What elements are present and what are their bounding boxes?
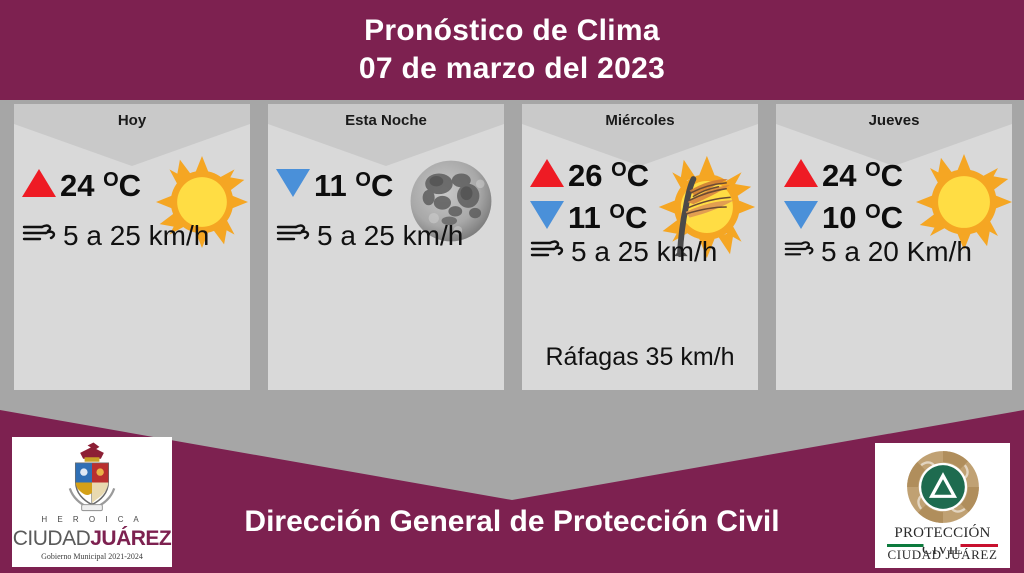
- low-temp-value: 11 OC: [568, 195, 647, 235]
- temperature-block: 11 OC: [276, 158, 393, 208]
- wind-row: 5 a 25 km/h: [530, 236, 717, 267]
- triangle-down-icon: [784, 201, 818, 229]
- forecast-card-esta-noche[interactable]: Esta Noche: [268, 104, 504, 390]
- low-temp-value: 10 OC: [822, 195, 903, 235]
- card-day-label: Jueves: [776, 112, 1012, 129]
- card-body: 11 OC: [268, 154, 504, 390]
- card-body: 24 OC: [14, 154, 250, 390]
- footer-banner-text: Dirección General de Protección Civil: [0, 505, 1024, 539]
- card-day-label: Esta Noche: [268, 112, 504, 129]
- wind-row: 5 a 25 km/h: [22, 220, 209, 251]
- wind-icon: [276, 220, 312, 251]
- forecast-card-jueves[interactable]: Jueves: [776, 104, 1012, 390]
- high-temp-row: 24 OC: [22, 158, 141, 208]
- card-day-label: Hoy: [14, 112, 250, 129]
- poster-header: Pronóstico de Clima 07 de marzo del 2023: [0, 0, 1024, 100]
- temperature-block: 26 OC 11 OC: [530, 152, 649, 236]
- ciudad-juarez-sublabel: CIUDAD JUÁREZ: [875, 547, 1010, 563]
- temperature-block: 24 OC: [22, 158, 141, 208]
- triangle-up-icon: [22, 169, 56, 197]
- forecast-card-miercoles[interactable]: Miércoles: [522, 104, 758, 390]
- poster-title-line2: 07 de marzo del 2023: [359, 50, 665, 88]
- forecast-card-hoy[interactable]: Hoy: [14, 104, 250, 390]
- wind-value: 5 a 20 Km/h: [821, 237, 972, 267]
- card-body: 26 OC 11 OC: [522, 154, 758, 390]
- triangle-up-icon: [784, 159, 818, 187]
- high-temp-row: 24 OC: [784, 152, 903, 194]
- high-temp-value: 24 OC: [60, 163, 141, 203]
- low-temp-value: 11 OC: [314, 163, 393, 203]
- wind-value: 5 a 25 km/h: [63, 221, 209, 251]
- high-temp-value: 26 OC: [568, 153, 649, 193]
- wind-value: 5 a 25 km/h: [317, 221, 463, 251]
- triangle-down-icon: [530, 201, 564, 229]
- weather-forecast-poster: Pronóstico de Clima 07 de marzo del 2023…: [0, 0, 1024, 573]
- forecast-card-list: Hoy: [0, 104, 1024, 390]
- low-temp-row: 11 OC: [276, 158, 393, 208]
- gobierno-municipal-label: Gobierno Municipal 2021-2024: [12, 552, 172, 561]
- low-temp-row: 10 OC: [784, 194, 903, 236]
- wind-icon: [22, 220, 58, 251]
- wind-icon: [530, 236, 566, 267]
- poster-title-line1: Pronóstico de Clima: [364, 12, 660, 50]
- high-temp-row: 26 OC: [530, 152, 649, 194]
- logo-ciudad-juarez: H E R O I C A CIUDADJUÁREZ Gobierno Muni…: [12, 437, 172, 567]
- gusts-value: Ráfagas 35 km/h: [522, 343, 758, 372]
- high-temp-value: 24 OC: [822, 153, 903, 193]
- card-day-label: Miércoles: [522, 112, 758, 129]
- card-body: 24 OC 10 OC: [776, 154, 1012, 390]
- wind-row: 5 a 20 Km/h: [784, 236, 972, 267]
- triangle-down-icon: [276, 169, 310, 197]
- triangle-up-icon: [530, 159, 564, 187]
- wind-icon: [784, 236, 816, 267]
- temperature-block: 24 OC 10 OC: [784, 152, 903, 236]
- low-temp-row: 11 OC: [530, 194, 649, 236]
- wind-value: 5 a 25 km/h: [571, 237, 717, 267]
- wind-row: 5 a 25 km/h: [276, 220, 463, 251]
